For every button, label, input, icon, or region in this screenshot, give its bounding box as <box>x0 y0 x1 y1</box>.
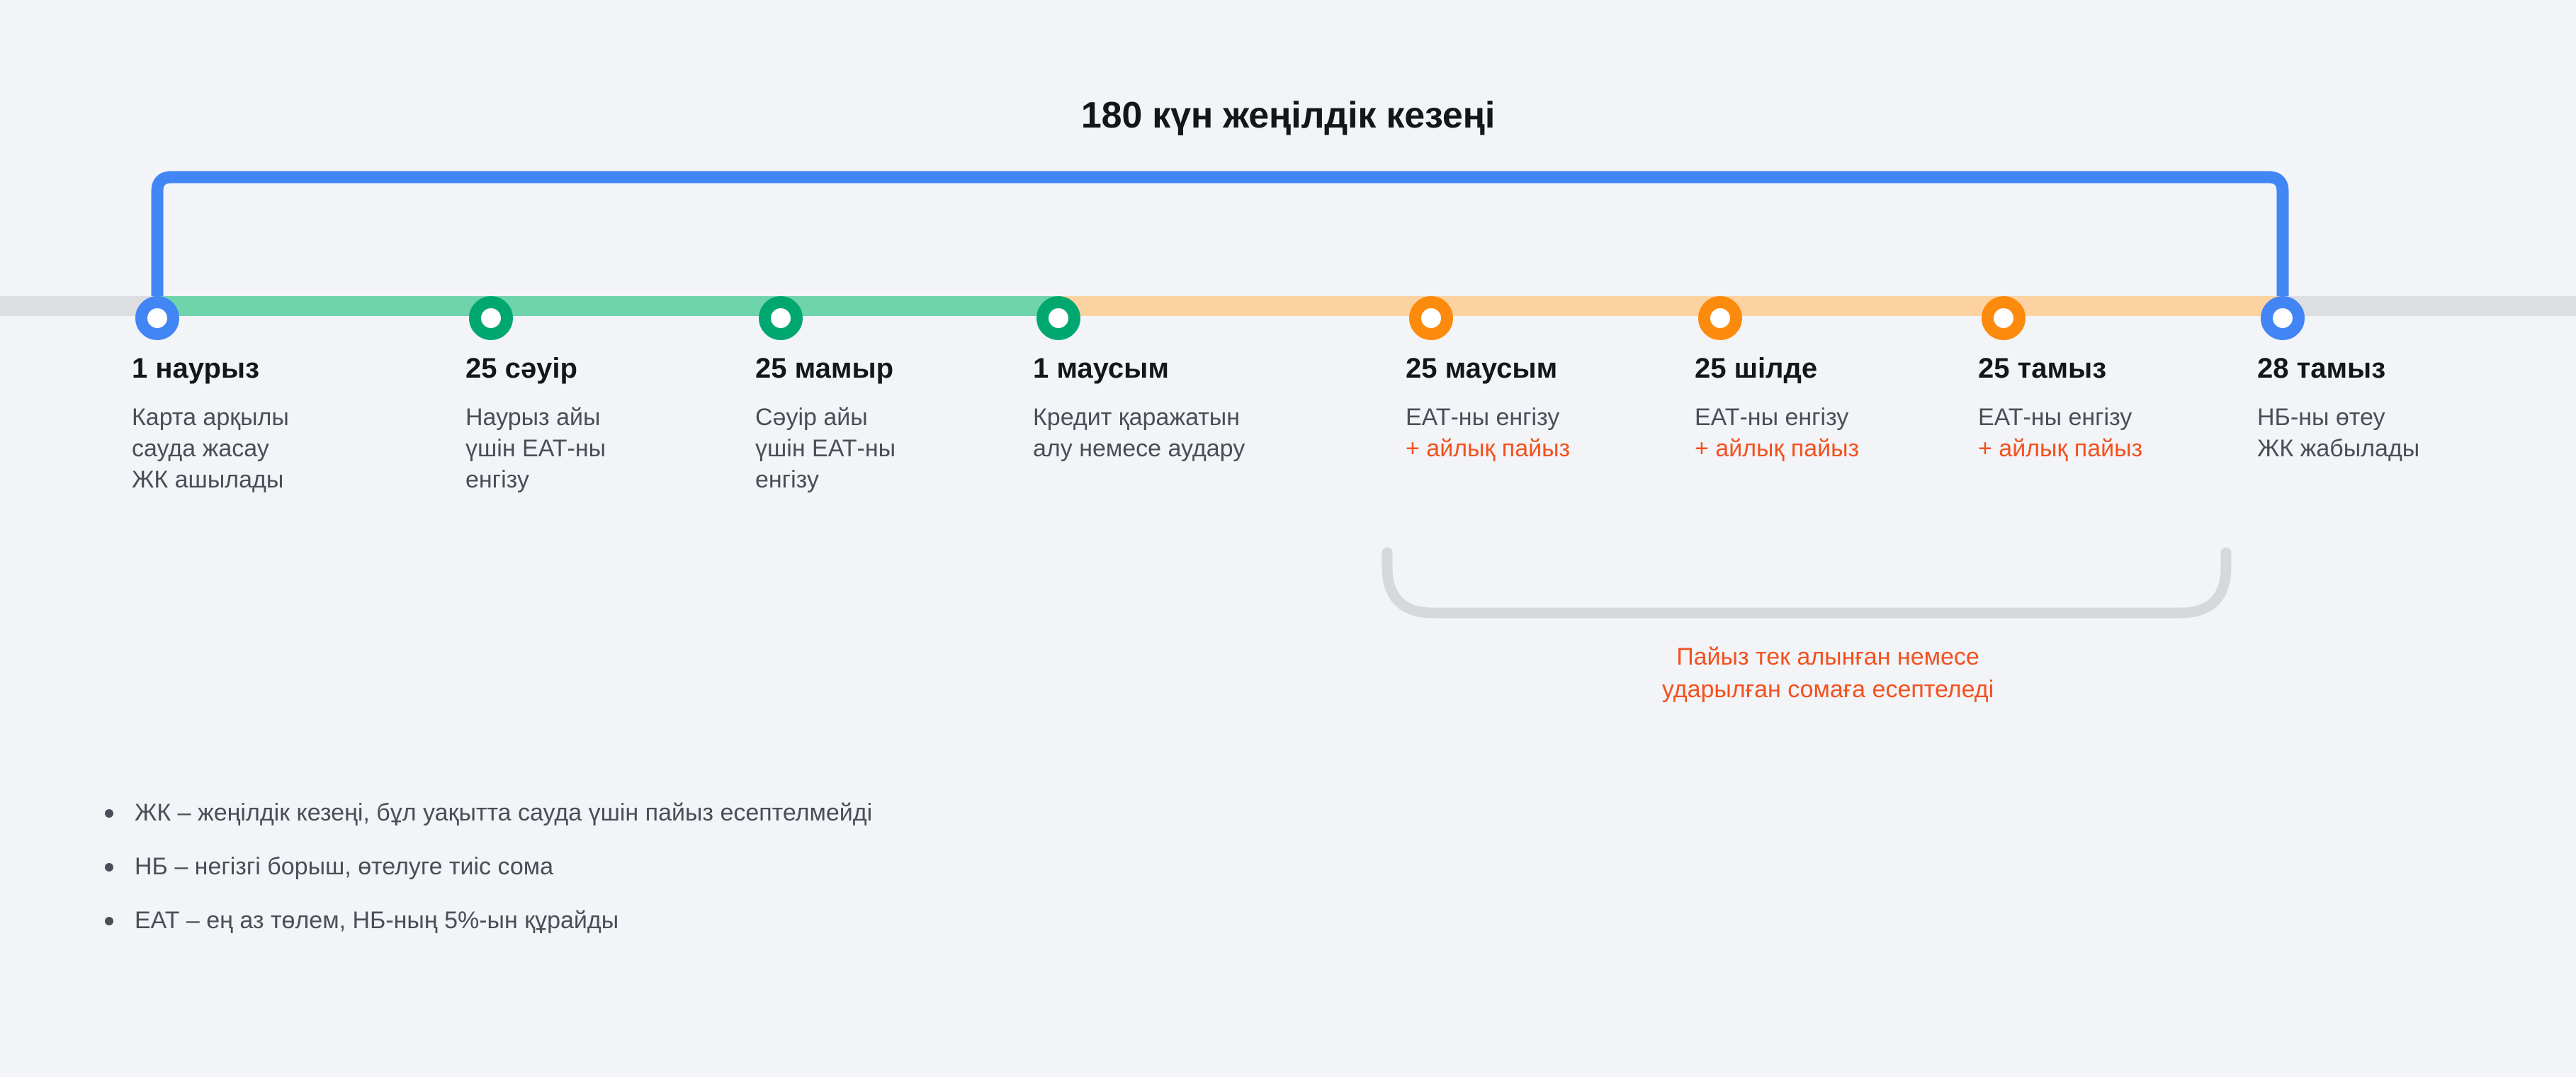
timeline-step-3: 25 мамыр Сәуір айы үшін ЕАТ-ны енгізу <box>755 354 896 496</box>
step-description: Сәуір айы үшін ЕАТ-ны енгізу <box>755 402 896 496</box>
legend-item-label: ЖК – жеңілдік кезеңі, бұл уақытта сауда … <box>135 797 872 828</box>
step-description: НБ-ны өтеу ЖК жабылады <box>2257 402 2419 464</box>
timeline-node-3[interactable] <box>759 296 803 340</box>
step-date: 1 наурыз <box>132 354 289 383</box>
timeline-infographic: 180 күн жеңілдік кезеңі 1 наурыз Карта а… <box>0 0 2576 1077</box>
step-desc-line: ЕАТ-ны енгізу <box>1978 402 2142 433</box>
bullet-icon <box>105 863 113 872</box>
interest-scope-note-line: ударылған сомаға есептеледі <box>1389 674 2267 706</box>
track-segment-green <box>153 296 1067 316</box>
step-description: Кредит қаражатын алу немесе аудару <box>1033 402 1245 464</box>
timeline-step-1: 1 наурыз Карта арқылы сауда жасау ЖК ашы… <box>132 354 289 496</box>
legend: ЖК – жеңілдік кезеңі, бұл уақытта сауда … <box>105 797 872 959</box>
legend-item-label: НБ – негізгі борыш, өтелуге тиіс сома <box>135 851 553 882</box>
timeline-node-2[interactable] <box>469 296 513 340</box>
step-desc-line: ЕАТ-ны енгізу <box>1695 402 1859 433</box>
timeline-node-6[interactable] <box>1698 296 1742 340</box>
step-date: 25 шілде <box>1695 354 1859 383</box>
timeline-step-7: 25 тамыз ЕАТ-ны енгізу + айлық пайыз <box>1978 354 2142 464</box>
step-desc-line: енгізу <box>465 464 606 495</box>
step-desc-line: Карта арқылы <box>132 402 289 433</box>
step-date: 25 тамыз <box>1978 354 2142 383</box>
timeline-node-8[interactable] <box>2261 296 2305 340</box>
timeline-node-1[interactable] <box>135 296 179 340</box>
step-desc-line: алу немесе аудару <box>1033 433 1245 464</box>
timeline-steps: 1 наурыз Карта арқылы сауда жасау ЖК ашы… <box>0 354 2576 567</box>
bullet-icon <box>105 917 113 925</box>
timeline-step-6: 25 шілде ЕАТ-ны енгізу + айлық пайыз <box>1695 354 1859 464</box>
step-interest-note: + айлық пайыз <box>1406 433 1570 464</box>
legend-item: НБ – негізгі борыш, өтелуге тиіс сома <box>105 851 872 882</box>
step-interest-note: + айлық пайыз <box>1695 433 1859 464</box>
step-date: 1 маусым <box>1033 354 1245 383</box>
step-date: 25 мамыр <box>755 354 896 383</box>
step-description: ЕАТ-ны енгізу <box>1406 402 1570 433</box>
step-description: Карта арқылы сауда жасау ЖК ашылады <box>132 402 289 496</box>
legend-item-label: ЕАТ – ең аз төлем, НБ-ның 5%-ын құрайды <box>135 905 618 936</box>
timeline-node-5[interactable] <box>1409 296 1453 340</box>
step-desc-line: үшін ЕАТ-ны <box>465 433 606 464</box>
track-segment-gray-end <box>2278 296 2576 316</box>
step-desc-line: ЖК ашылады <box>132 464 289 495</box>
step-desc-line: үшін ЕАТ-ны <box>755 433 896 464</box>
step-desc-line: ЖК жабылады <box>2257 433 2419 464</box>
step-desc-line: НБ-ны өтеу <box>2257 402 2419 433</box>
step-desc-line: ЕАТ-ны енгізу <box>1406 402 1570 433</box>
step-desc-line: сауда жасау <box>132 433 289 464</box>
step-desc-line: Сәуір айы <box>755 402 896 433</box>
timeline-step-4: 1 маусым Кредит қаражатын алу немесе ауд… <box>1033 354 1245 464</box>
step-desc-line: Наурыз айы <box>465 402 606 433</box>
legend-item: ЖК – жеңілдік кезеңі, бұл уақытта сауда … <box>105 797 872 828</box>
track-segment-orange <box>1056 296 2288 316</box>
step-description: ЕАТ-ны енгізу <box>1978 402 2142 433</box>
timeline-track <box>0 296 2576 316</box>
bullet-icon <box>105 809 113 818</box>
step-desc-line: енгізу <box>755 464 896 495</box>
timeline-node-4[interactable] <box>1036 296 1080 340</box>
legend-item: ЕАТ – ең аз төлем, НБ-ның 5%-ын құрайды <box>105 905 872 936</box>
step-date: 25 маусым <box>1406 354 1570 383</box>
timeline-node-7[interactable] <box>1982 296 2026 340</box>
page-title: 180 күн жеңілдік кезеңі <box>0 94 2576 137</box>
step-date: 28 тамыз <box>2257 354 2419 383</box>
step-description: Наурыз айы үшін ЕАТ-ны енгізу <box>465 402 606 496</box>
timeline-step-2: 25 сәуір Наурыз айы үшін ЕАТ-ны енгізу <box>465 354 606 496</box>
step-date: 25 сәуір <box>465 354 606 383</box>
timeline-step-8: 28 тамыз НБ-ны өтеу ЖК жабылады <box>2257 354 2419 464</box>
step-desc-line: Кредит қаражатын <box>1033 402 1245 433</box>
interest-scope-note: Пайыз тек алынған немесе ударылған сомағ… <box>1389 641 2267 706</box>
timeline-step-5: 25 маусым ЕАТ-ны енгізу + айлық пайыз <box>1406 354 1570 464</box>
step-interest-note: + айлық пайыз <box>1978 433 2142 464</box>
step-description: ЕАТ-ны енгізу <box>1695 402 1859 433</box>
interest-scope-note-line: Пайыз тек алынған немесе <box>1389 641 2267 674</box>
